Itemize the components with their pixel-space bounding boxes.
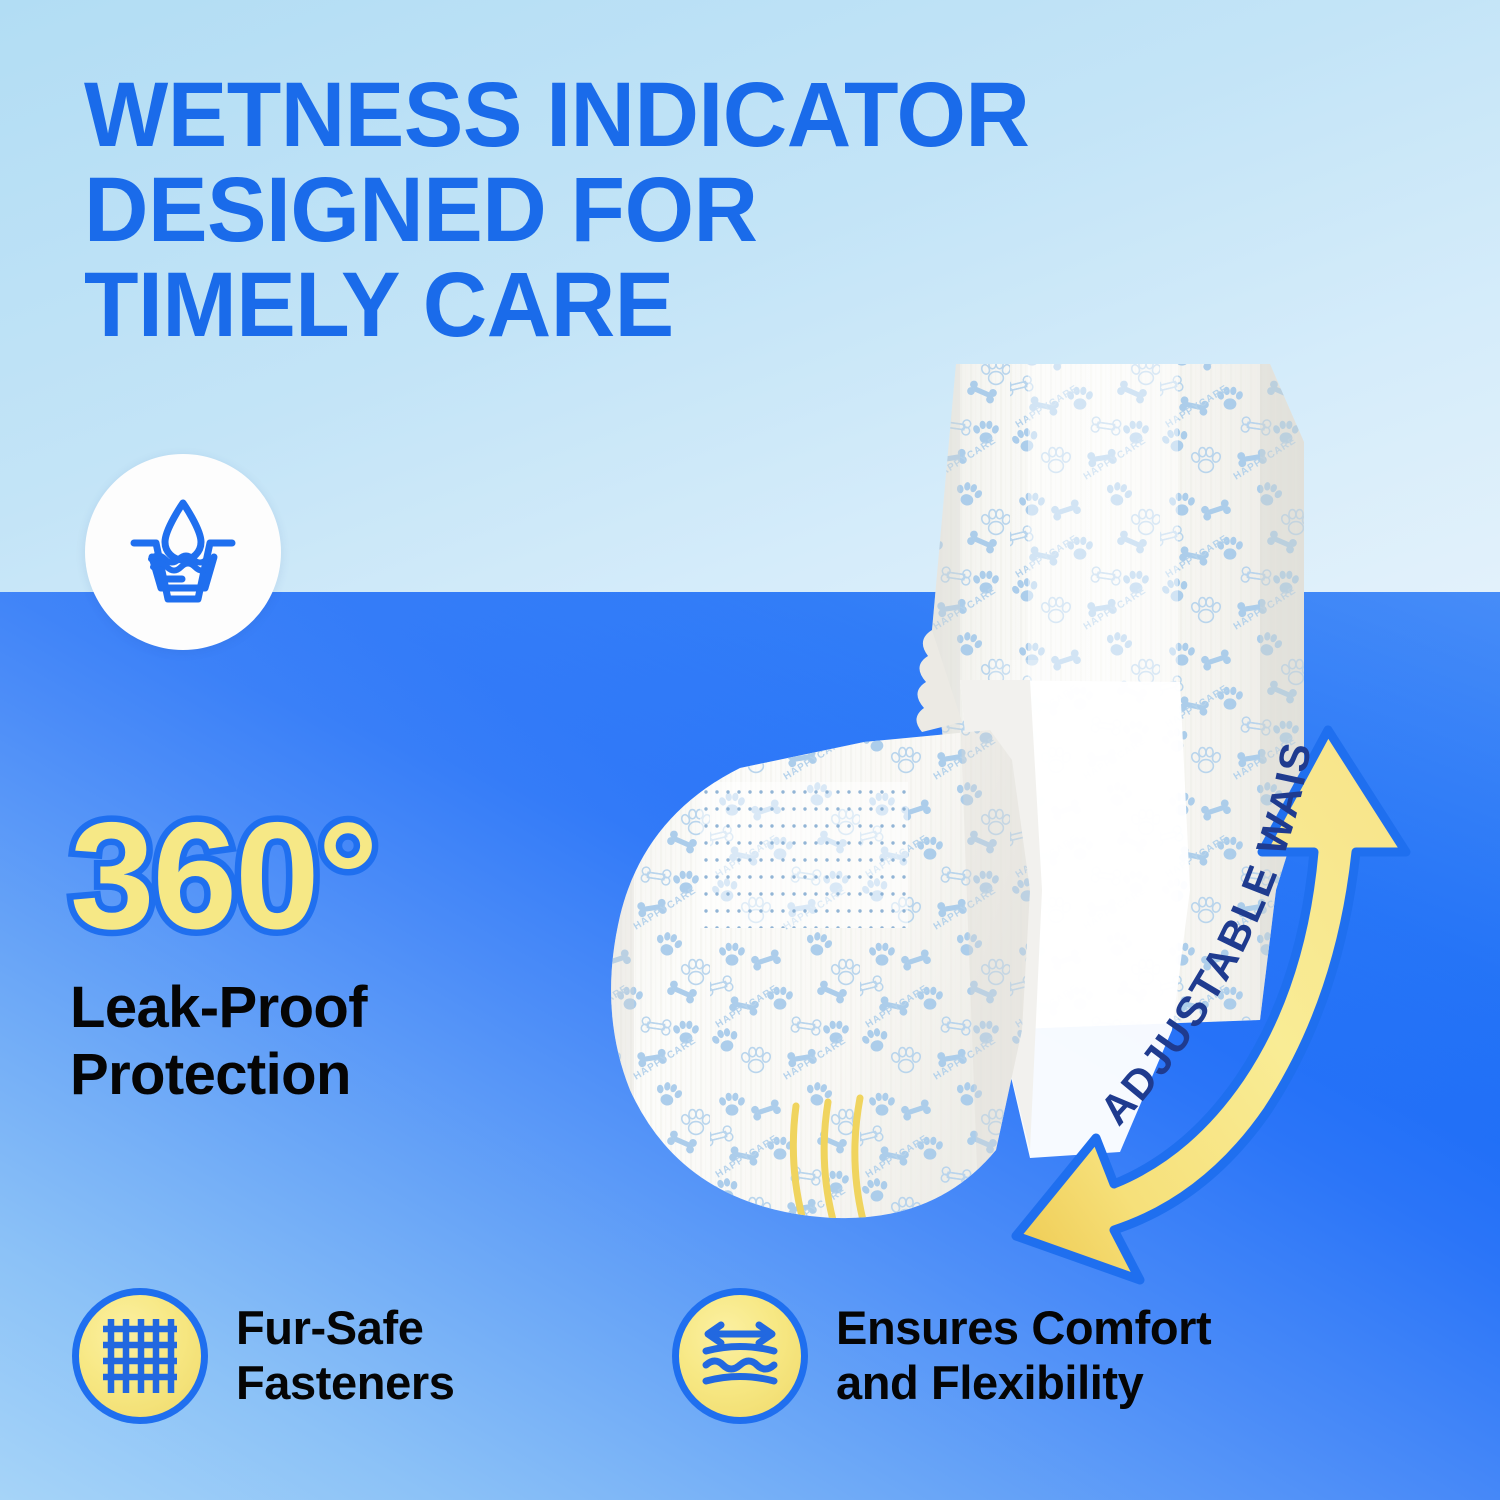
leak-proof-line-2: Protection bbox=[70, 1041, 550, 1108]
water-drop-basin-icon bbox=[120, 487, 246, 618]
degree-number: 360° bbox=[70, 800, 550, 952]
leak-proof-line-1: Leak-Proof bbox=[70, 974, 550, 1041]
leak-proof-subtitle: Leak-Proof Protection bbox=[70, 974, 550, 1109]
mesh-grid-icon bbox=[72, 1288, 208, 1424]
infographic-canvas: WETNESS INDICATOR DESIGNED FOR TIMELY CA… bbox=[0, 0, 1500, 1500]
wetness-indicator-badge bbox=[85, 454, 281, 650]
feature-2-line-1: Ensures Comfort bbox=[836, 1301, 1211, 1356]
feature-1-line-1: Fur-Safe bbox=[236, 1301, 454, 1356]
adjustable-waistband-callout: ADJUSTABLE WAISTBAND bbox=[1010, 670, 1430, 1250]
headline-line-2: DESIGNED FOR bbox=[84, 163, 1287, 258]
headline-line-1: WETNESS INDICATOR bbox=[84, 68, 1287, 163]
feature-1-line-2: Fasteners bbox=[236, 1356, 454, 1411]
feature-2-line-2: and Flexibility bbox=[836, 1356, 1211, 1411]
feature-fur-safe-fasteners: Fur-Safe Fasteners bbox=[72, 1288, 454, 1424]
page-title: WETNESS INDICATOR DESIGNED FOR TIMELY CA… bbox=[84, 68, 1287, 352]
diaper-front-panel bbox=[580, 710, 1060, 1250]
wetness-indicator-strip bbox=[700, 782, 908, 928]
stretch-elastic-icon bbox=[672, 1288, 808, 1424]
feature-comfort-flexibility: Ensures Comfort and Flexibility bbox=[672, 1288, 1211, 1424]
leak-proof-highlight: 360° Leak-Proof Protection bbox=[70, 800, 550, 1109]
feature-label-fur-safe: Fur-Safe Fasteners bbox=[236, 1301, 454, 1410]
feature-label-comfort: Ensures Comfort and Flexibility bbox=[836, 1301, 1211, 1410]
